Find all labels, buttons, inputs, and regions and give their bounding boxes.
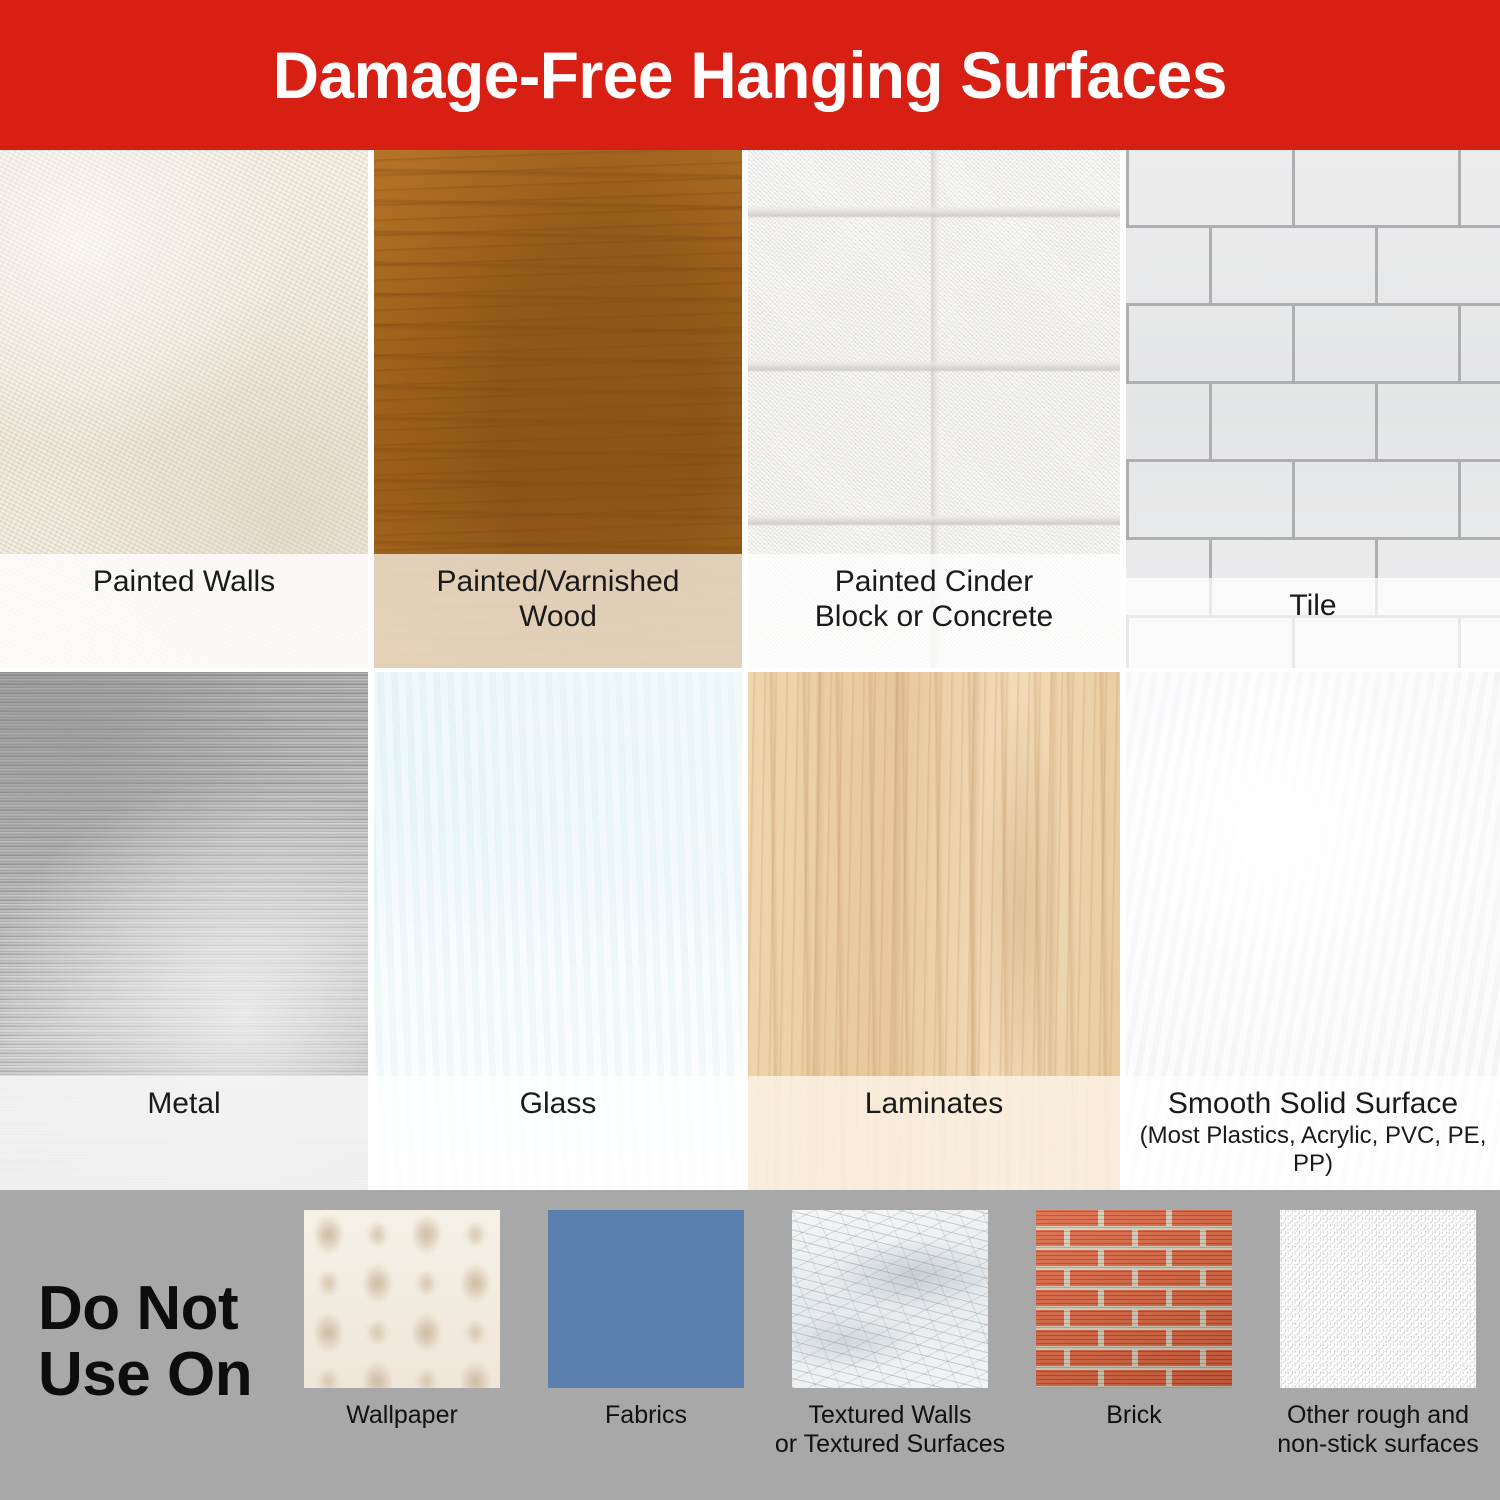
surface-cell-painted-walls[interactable]: Painted Walls xyxy=(0,150,368,668)
textured-plaster-texture xyxy=(792,1210,988,1388)
red-brick-texture xyxy=(1036,1210,1232,1388)
do-not-use-item-brick[interactable]: Brick xyxy=(1012,1210,1256,1430)
fabrics-thumbnail xyxy=(548,1210,744,1388)
surface-label-varnished-wood: Painted/Varnished Wood xyxy=(374,554,742,668)
do-not-use-label-fabrics: Fabrics xyxy=(605,1401,687,1430)
rough-surfaces-thumbnail xyxy=(1280,1210,1476,1388)
do-not-use-item-wallpaper[interactable]: Wallpaper xyxy=(280,1210,524,1430)
surface-label-tile: Tile xyxy=(1126,578,1500,668)
surface-label-glass: Glass xyxy=(374,1076,742,1190)
approved-surfaces-grid: Painted Walls Painted/Varnished Wood Pai… xyxy=(0,150,1500,1190)
surface-cell-glass[interactable]: Glass xyxy=(374,672,742,1190)
surface-cell-metal[interactable]: Metal xyxy=(0,672,368,1190)
do-not-use-label-rough-surfaces: Other rough and non-stick surfaces xyxy=(1277,1401,1478,1459)
brick-thumbnail xyxy=(1036,1210,1232,1388)
rough-stucco-texture xyxy=(1280,1210,1476,1388)
do-not-use-label-wallpaper: Wallpaper xyxy=(346,1401,458,1430)
surface-cell-smooth-solid-surface[interactable]: Smooth Solid Surface (Most Plastics, Acr… xyxy=(1126,672,1500,1190)
surface-label-smooth-solid-sub: (Most Plastics, Acrylic, PVC, PE, PP) xyxy=(1132,1122,1494,1177)
surface-cell-laminates[interactable]: Laminates xyxy=(748,672,1120,1190)
surface-cell-tile[interactable]: Tile xyxy=(1126,150,1500,668)
do-not-use-thumbnail-list: Wallpaper Fabrics Textured Walls or Text… xyxy=(280,1210,1500,1500)
surface-label-painted-walls: Painted Walls xyxy=(0,554,368,668)
do-not-use-item-fabrics[interactable]: Fabrics xyxy=(524,1210,768,1430)
do-not-use-label-textured-walls: Textured Walls or Textured Surfaces xyxy=(775,1401,1005,1459)
do-not-use-heading: Do Not Use On xyxy=(38,1276,252,1407)
do-not-use-section: Do Not Use On Wallpaper Fabrics Textured… xyxy=(0,1190,1500,1500)
do-not-use-label-brick: Brick xyxy=(1106,1401,1162,1430)
surface-cell-cinder-block[interactable]: Painted Cinder Block or Concrete xyxy=(748,150,1120,668)
surface-cell-varnished-wood[interactable]: Painted/Varnished Wood xyxy=(374,150,742,668)
page-title: Damage-Free Hanging Surfaces xyxy=(273,42,1227,108)
surface-label-smooth-solid-main: Smooth Solid Surface xyxy=(1168,1087,1458,1120)
surface-label-metal: Metal xyxy=(0,1076,368,1190)
wallpaper-damask-texture xyxy=(304,1210,500,1388)
textured-walls-thumbnail xyxy=(792,1210,988,1388)
header-banner: Damage-Free Hanging Surfaces xyxy=(0,0,1500,150)
do-not-use-item-rough-surfaces[interactable]: Other rough and non-stick surfaces xyxy=(1256,1210,1500,1459)
do-not-use-item-textured-walls[interactable]: Textured Walls or Textured Surfaces xyxy=(768,1210,1012,1459)
infographic-root: Damage-Free Hanging Surfaces Painted Wal… xyxy=(0,0,1500,1500)
wallpaper-thumbnail xyxy=(304,1210,500,1388)
surface-label-laminates: Laminates xyxy=(748,1076,1120,1190)
surface-label-smooth-solid-surface: Smooth Solid Surface (Most Plastics, Acr… xyxy=(1126,1076,1500,1190)
denim-fabric-texture xyxy=(548,1210,744,1388)
surface-label-cinder-block: Painted Cinder Block or Concrete xyxy=(748,554,1120,668)
